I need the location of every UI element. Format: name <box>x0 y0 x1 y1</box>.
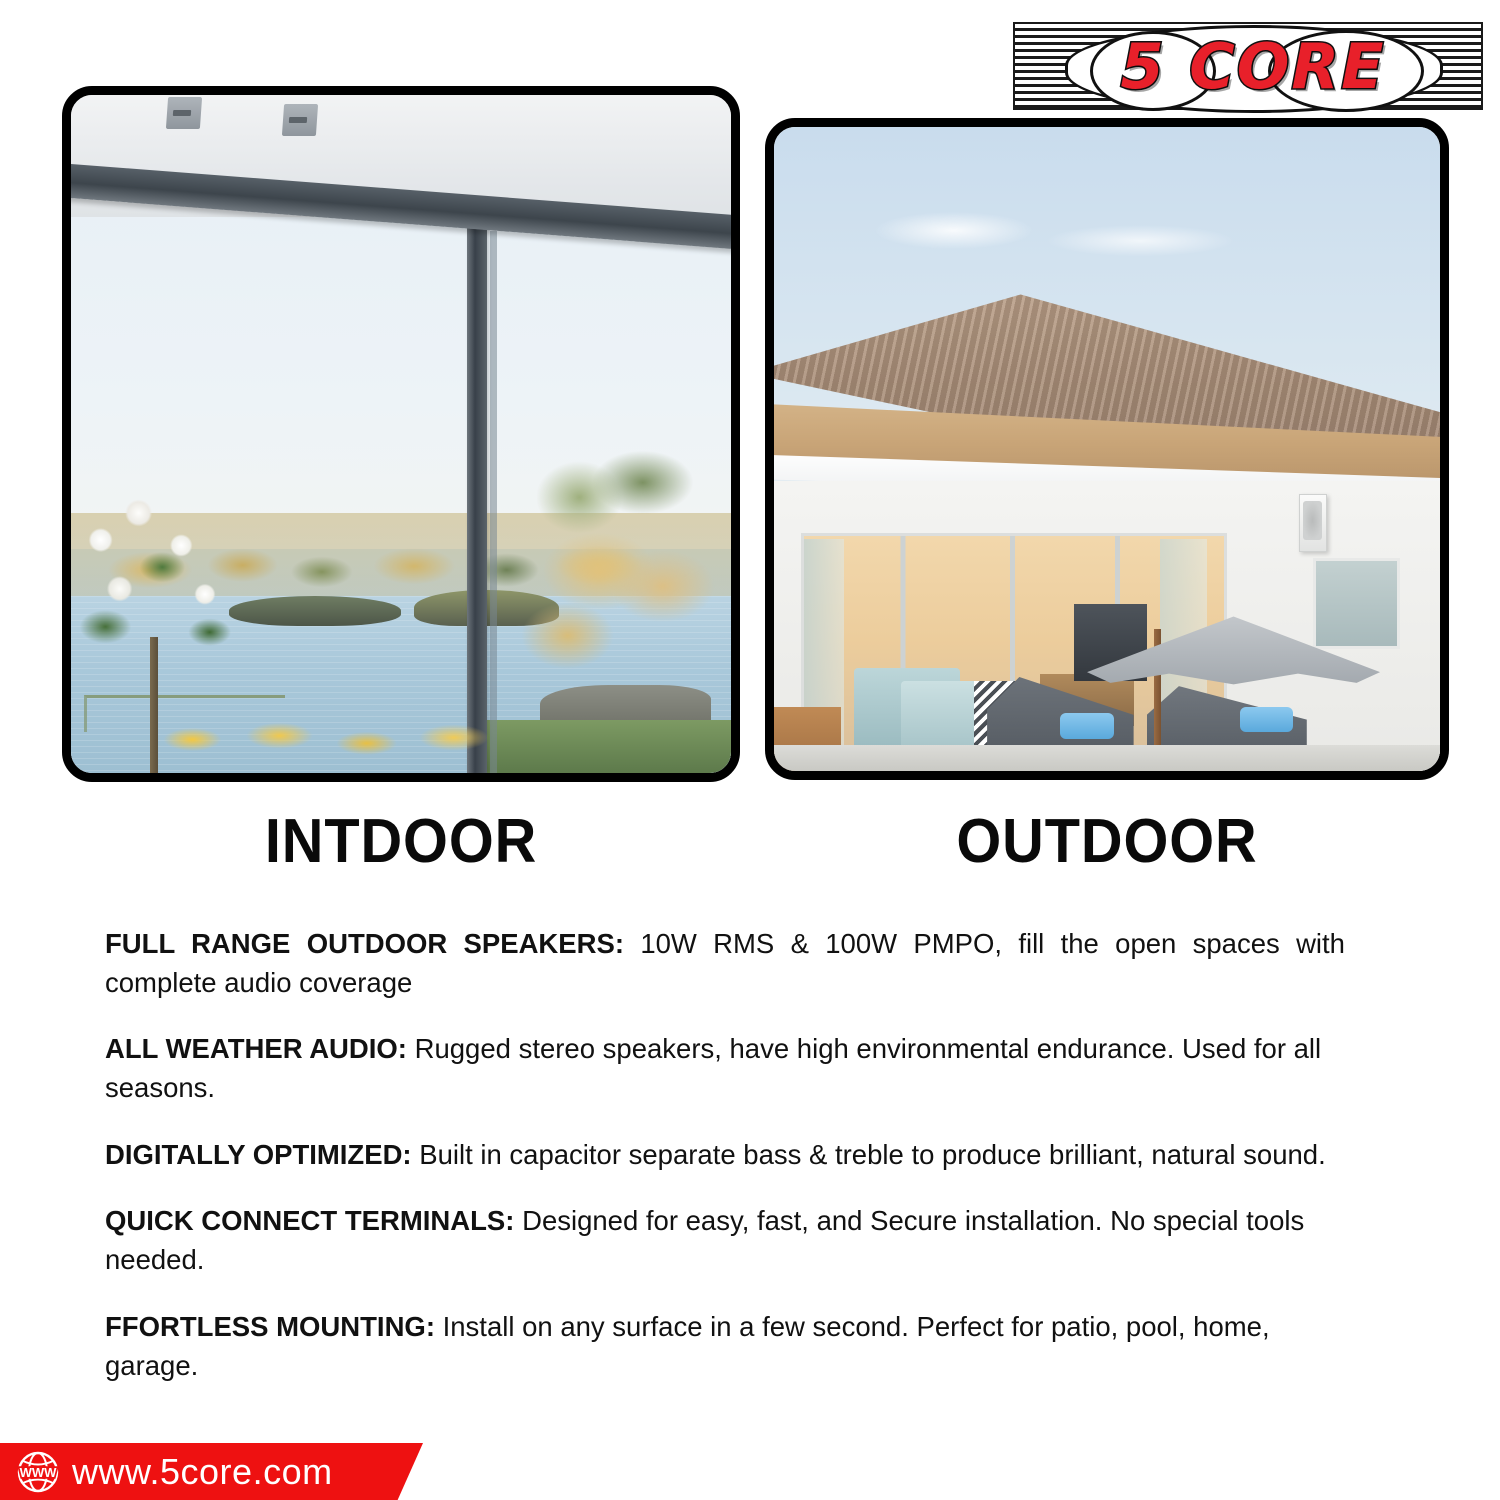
feature-title: QUICK CONNECT TERMINALS: <box>105 1205 514 1236</box>
outdoor-interior-sofa-secondary <box>901 681 981 745</box>
feature-body: Built in capacitor separate bass & trebl… <box>419 1139 1326 1170</box>
ceiling-speaker-icon <box>282 104 318 136</box>
indoor-heading: INTDOOR <box>86 806 717 877</box>
feature-list: FULL RANGE OUTDOOR SPEAKERS: 10W RMS & 1… <box>105 896 1345 1385</box>
indoor-white-flower-shrub <box>71 475 295 746</box>
feature-title: FULL RANGE OUTDOOR SPEAKERS: <box>105 928 624 959</box>
feature-item: QUICK CONNECT TERMINALS: Designed for ea… <box>105 1201 1345 1279</box>
logo-text: 5 CORE <box>1073 24 1433 108</box>
outdoor-heading: OUTDOOR <box>789 806 1425 877</box>
outdoor-deck-floor <box>774 745 1440 771</box>
outdoor-photo <box>765 118 1449 780</box>
website-footer-bar[interactable]: WWW www.5core.com <box>0 1443 423 1500</box>
outdoor-side-window <box>1313 558 1400 648</box>
outdoor-scene <box>774 127 1440 771</box>
website-url-text: www.5core.com <box>72 1451 333 1493</box>
svg-text:WWW: WWW <box>20 1465 58 1480</box>
indoor-autumn-tree <box>520 443 718 691</box>
feature-title: ALL WEATHER AUDIO: <box>105 1033 407 1064</box>
outdoor-cloud <box>814 179 1280 282</box>
outdoor-wall-speaker-icon <box>1299 494 1327 552</box>
outdoor-rolled-towel <box>1240 707 1293 733</box>
www-globe-icon: WWW <box>16 1450 60 1494</box>
outdoor-rolled-towel <box>1060 713 1113 739</box>
feature-item: FFORTLESS MOUNTING: Install on any surfa… <box>105 1307 1345 1385</box>
indoor-photo <box>62 86 740 782</box>
feature-item: FULL RANGE OUTDOOR SPEAKERS: 10W RMS & 1… <box>105 924 1345 1002</box>
feature-item: DIGITALLY OPTIMIZED: Built in capacitor … <box>105 1135 1345 1174</box>
feature-title: FFORTLESS MOUNTING: <box>105 1311 435 1342</box>
indoor-window-mullion <box>467 217 487 773</box>
ceiling-speaker-icon <box>166 97 202 129</box>
feature-title: DIGITALLY OPTIMIZED: <box>105 1139 412 1170</box>
indoor-scene <box>71 95 731 773</box>
feature-item: ALL WEATHER AUDIO: Rugged stereo speaker… <box>105 1029 1345 1107</box>
brand-logo: 5 CORE <box>1013 22 1483 110</box>
